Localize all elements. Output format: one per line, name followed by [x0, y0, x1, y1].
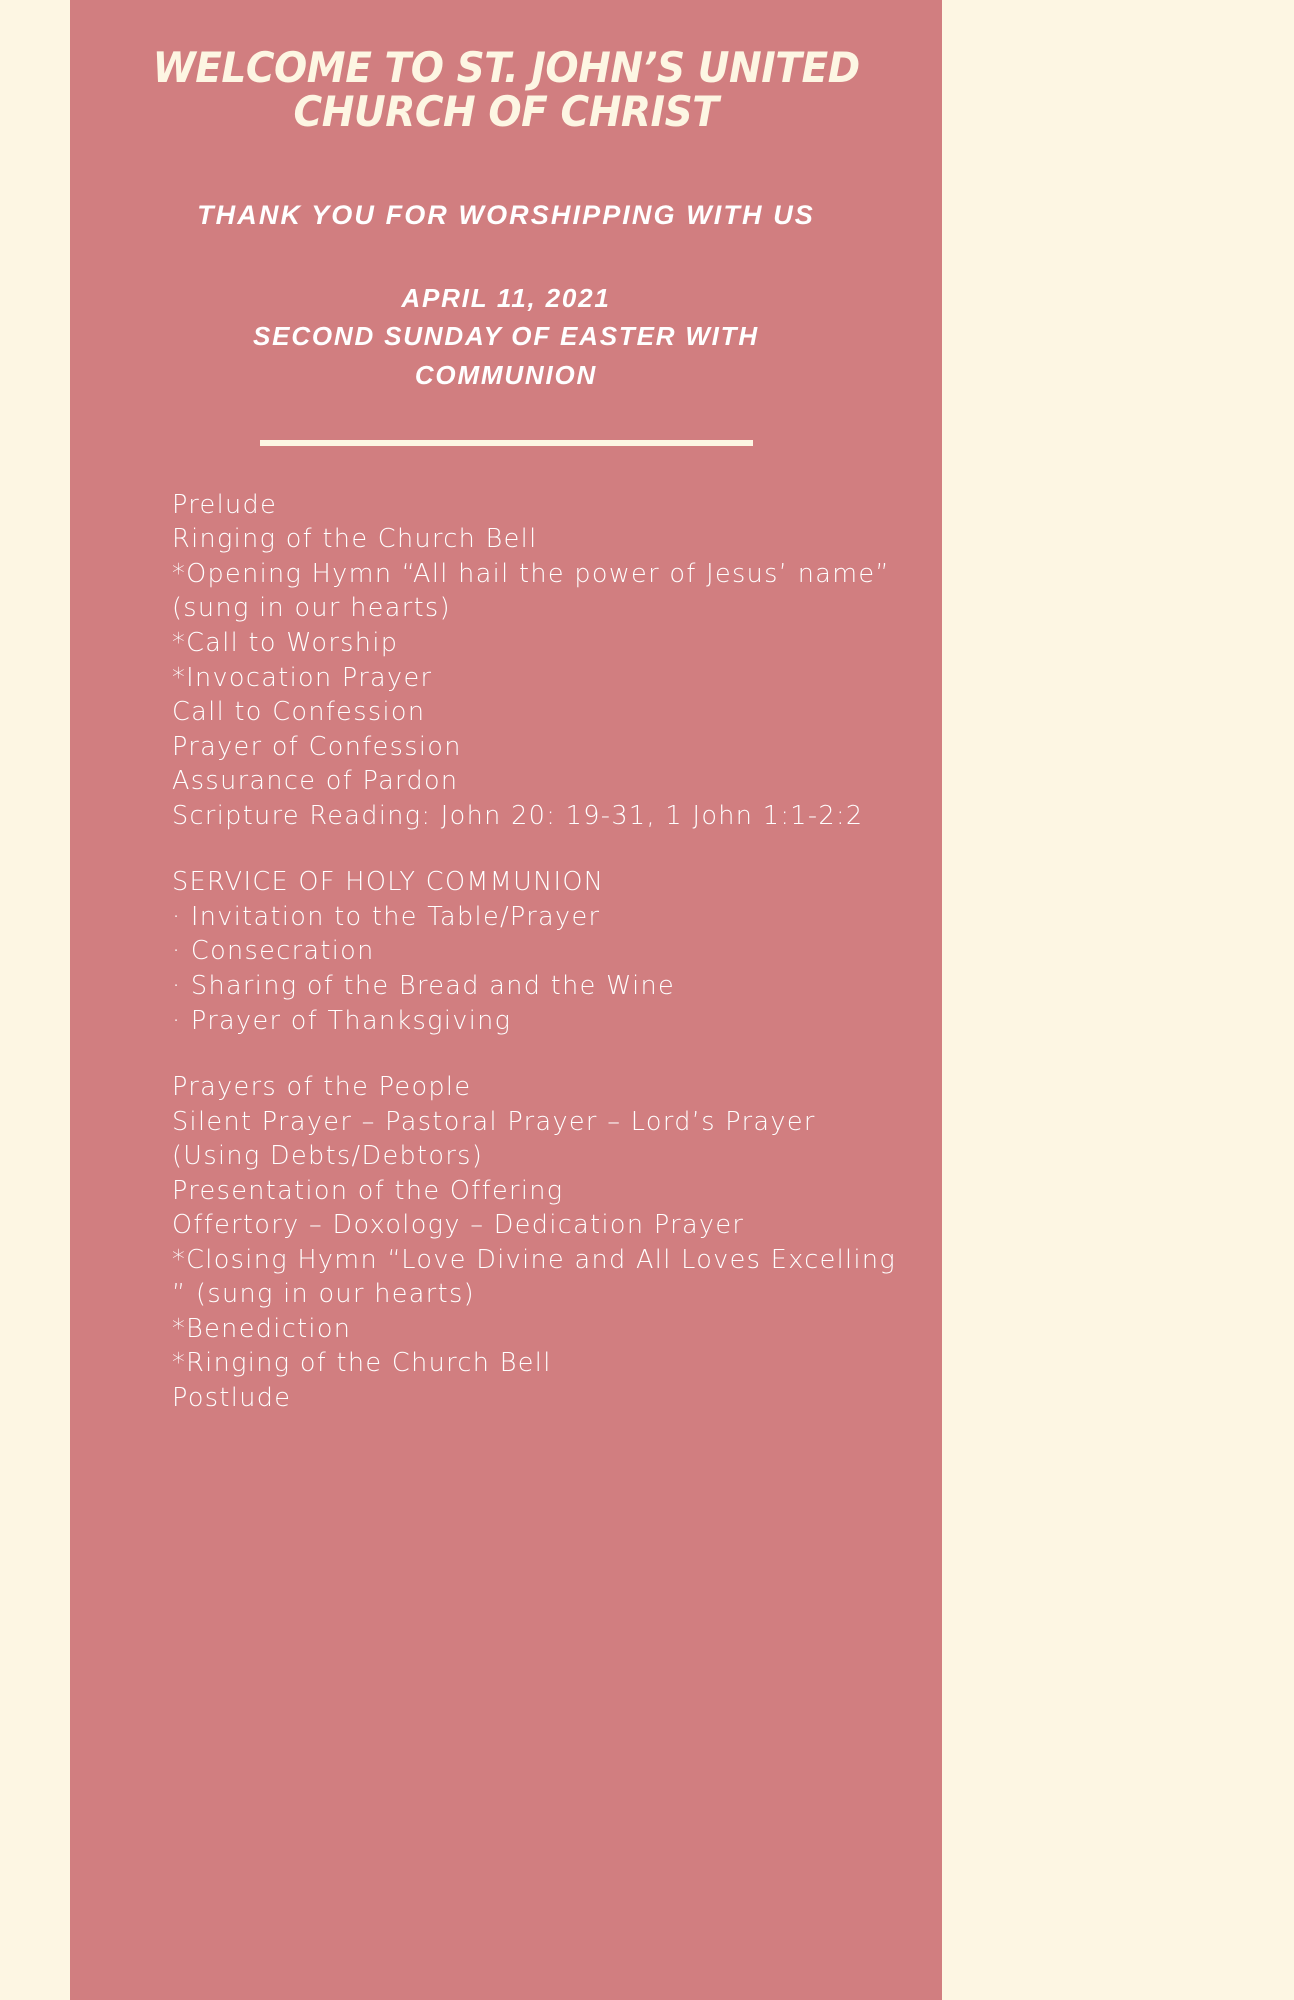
service-date: APRIL 11, 2021 [70, 279, 942, 317]
thank-you-message: THANK YOU FOR WORSHIPPING WITH US [70, 200, 942, 231]
header-block: WELCOME TO ST. JOHN’S UNITED CHURCH OF C… [70, 0, 942, 446]
order-of-service: Prelude Ringing of the Church Bell *Open… [70, 488, 942, 1416]
page-title-line-1: WELCOME TO ST. JOHN’S UNITED [153, 46, 860, 90]
service-item: *Benediction [172, 1312, 908, 1347]
opening-section: Prelude Ringing of the Church Bell *Open… [172, 488, 908, 833]
closing-section: Prayers of the People Silent Prayer – Pa… [172, 1070, 908, 1415]
service-item: Offertory – Doxology – Dedication Prayer [172, 1208, 908, 1243]
service-item: Ringing of the Church Bell [172, 522, 908, 557]
service-occasion-line-1: SECOND SUNDAY OF EASTER WITH [70, 317, 942, 355]
communion-section-heading: SERVICE OF HOLY COMMUNION [172, 865, 908, 900]
service-item: · Invitation to the Table/Prayer [172, 900, 908, 935]
service-item: *Closing Hymn “Love Divine and All Loves… [172, 1243, 908, 1312]
service-item: Call to Confession [172, 695, 908, 730]
service-item: *Call to Worship [172, 626, 908, 661]
bulletin-card: WELCOME TO ST. JOHN’S UNITED CHURCH OF C… [70, 0, 942, 2000]
service-date-block: APRIL 11, 2021 SECOND SUNDAY OF EASTER W… [70, 279, 942, 394]
communion-section: SERVICE OF HOLY COMMUNION · Invitation t… [172, 865, 908, 1038]
page-title: WELCOME TO ST. JOHN’S UNITED CHURCH OF C… [115, 46, 896, 134]
service-item: · Prayer of Thanksgiving [172, 1004, 908, 1039]
service-item: Prayers of the People [172, 1070, 908, 1105]
service-item: Presentation of the Offering [172, 1174, 908, 1209]
service-item: *Ringing of the Church Bell [172, 1346, 908, 1381]
service-item: Silent Prayer – Pastoral Prayer – Lord’s… [172, 1105, 908, 1174]
service-item: Prelude [172, 488, 908, 523]
service-item: *Opening Hymn “All hail the power of Jes… [172, 557, 908, 626]
service-item: Prayer of Confession [172, 730, 908, 765]
service-occasion-line-2: COMMUNION [70, 356, 942, 394]
service-item: · Consecration [172, 934, 908, 969]
service-item: · Sharing of the Bread and the Wine [172, 969, 908, 1004]
divider [260, 440, 753, 446]
service-item: Scripture Reading: John 20: 19-31, 1 Joh… [172, 799, 908, 834]
service-item: *Invocation Prayer [172, 661, 908, 696]
service-item: Postlude [172, 1381, 908, 1416]
service-item: Assurance of Pardon [172, 764, 908, 799]
page-title-line-2: CHURCH OF CHRIST [153, 90, 860, 134]
